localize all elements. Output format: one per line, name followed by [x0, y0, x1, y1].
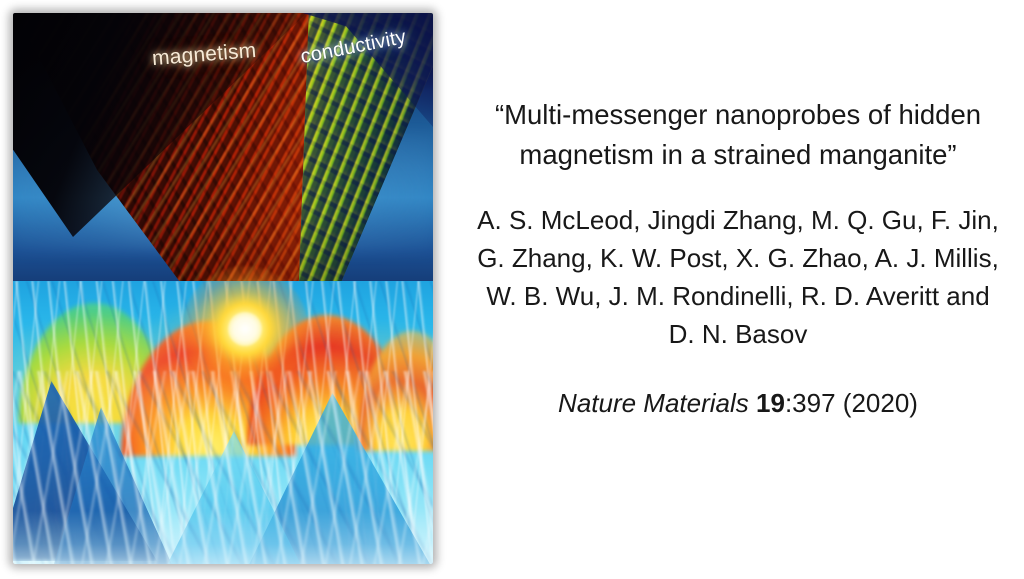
slide-canvas: magnetism conductivity — [0, 0, 1024, 579]
journal-citation: Nature Materials 19:397 (2020) — [452, 385, 1024, 421]
citation-year: (2020) — [843, 388, 918, 418]
paper-title: “Multi-messenger nanoprobes of hidden ma… — [452, 95, 1024, 175]
paper-title-line-2: magnetism in a strained manganite” — [519, 139, 956, 170]
paper-title-line-1: “Multi-messenger nanoprobes of hidden — [495, 99, 981, 130]
terrain-bottom-fade — [13, 511, 433, 564]
citation-volume: 19 — [756, 388, 785, 418]
sample-surface-terrain — [13, 281, 433, 564]
cover-art-figure: magnetism conductivity — [13, 13, 433, 564]
text-column: “Multi-messenger nanoprobes of hidden ma… — [452, 0, 1024, 579]
author-list: A. S. McLeod, Jingdi Zhang, M. Q. Gu, F.… — [452, 201, 1024, 353]
citation-journal: Nature Materials — [558, 388, 749, 418]
citation-page: 397 — [792, 388, 835, 418]
figure-image: magnetism conductivity — [13, 13, 433, 564]
